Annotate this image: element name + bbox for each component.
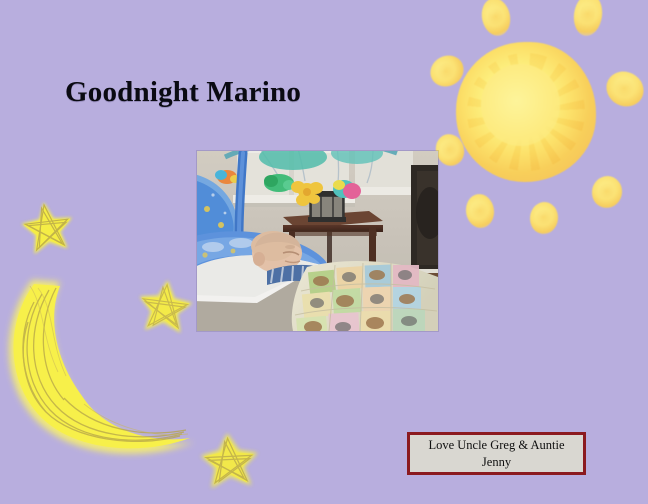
sun-icon (456, 42, 596, 182)
sun-ray-icon (571, 0, 605, 38)
star-icon (14, 192, 80, 259)
sun-ray-icon (600, 65, 648, 113)
baby-photo (197, 151, 438, 331)
sun-ray-icon (589, 173, 626, 211)
sun-ray-icon (528, 201, 559, 236)
sun-ray-icon (464, 192, 496, 230)
slide-canvas: Goodnight Marino (0, 0, 648, 504)
sun-ray-icon (478, 0, 513, 38)
page-title: Goodnight Marino (65, 76, 301, 109)
caption-box: Love Uncle Greg & Auntie Jenny (407, 432, 586, 475)
caption-text: Love Uncle Greg & Auntie Jenny (416, 437, 577, 470)
sun-decoration (422, 0, 648, 244)
crescent-moon-icon (0, 272, 218, 462)
